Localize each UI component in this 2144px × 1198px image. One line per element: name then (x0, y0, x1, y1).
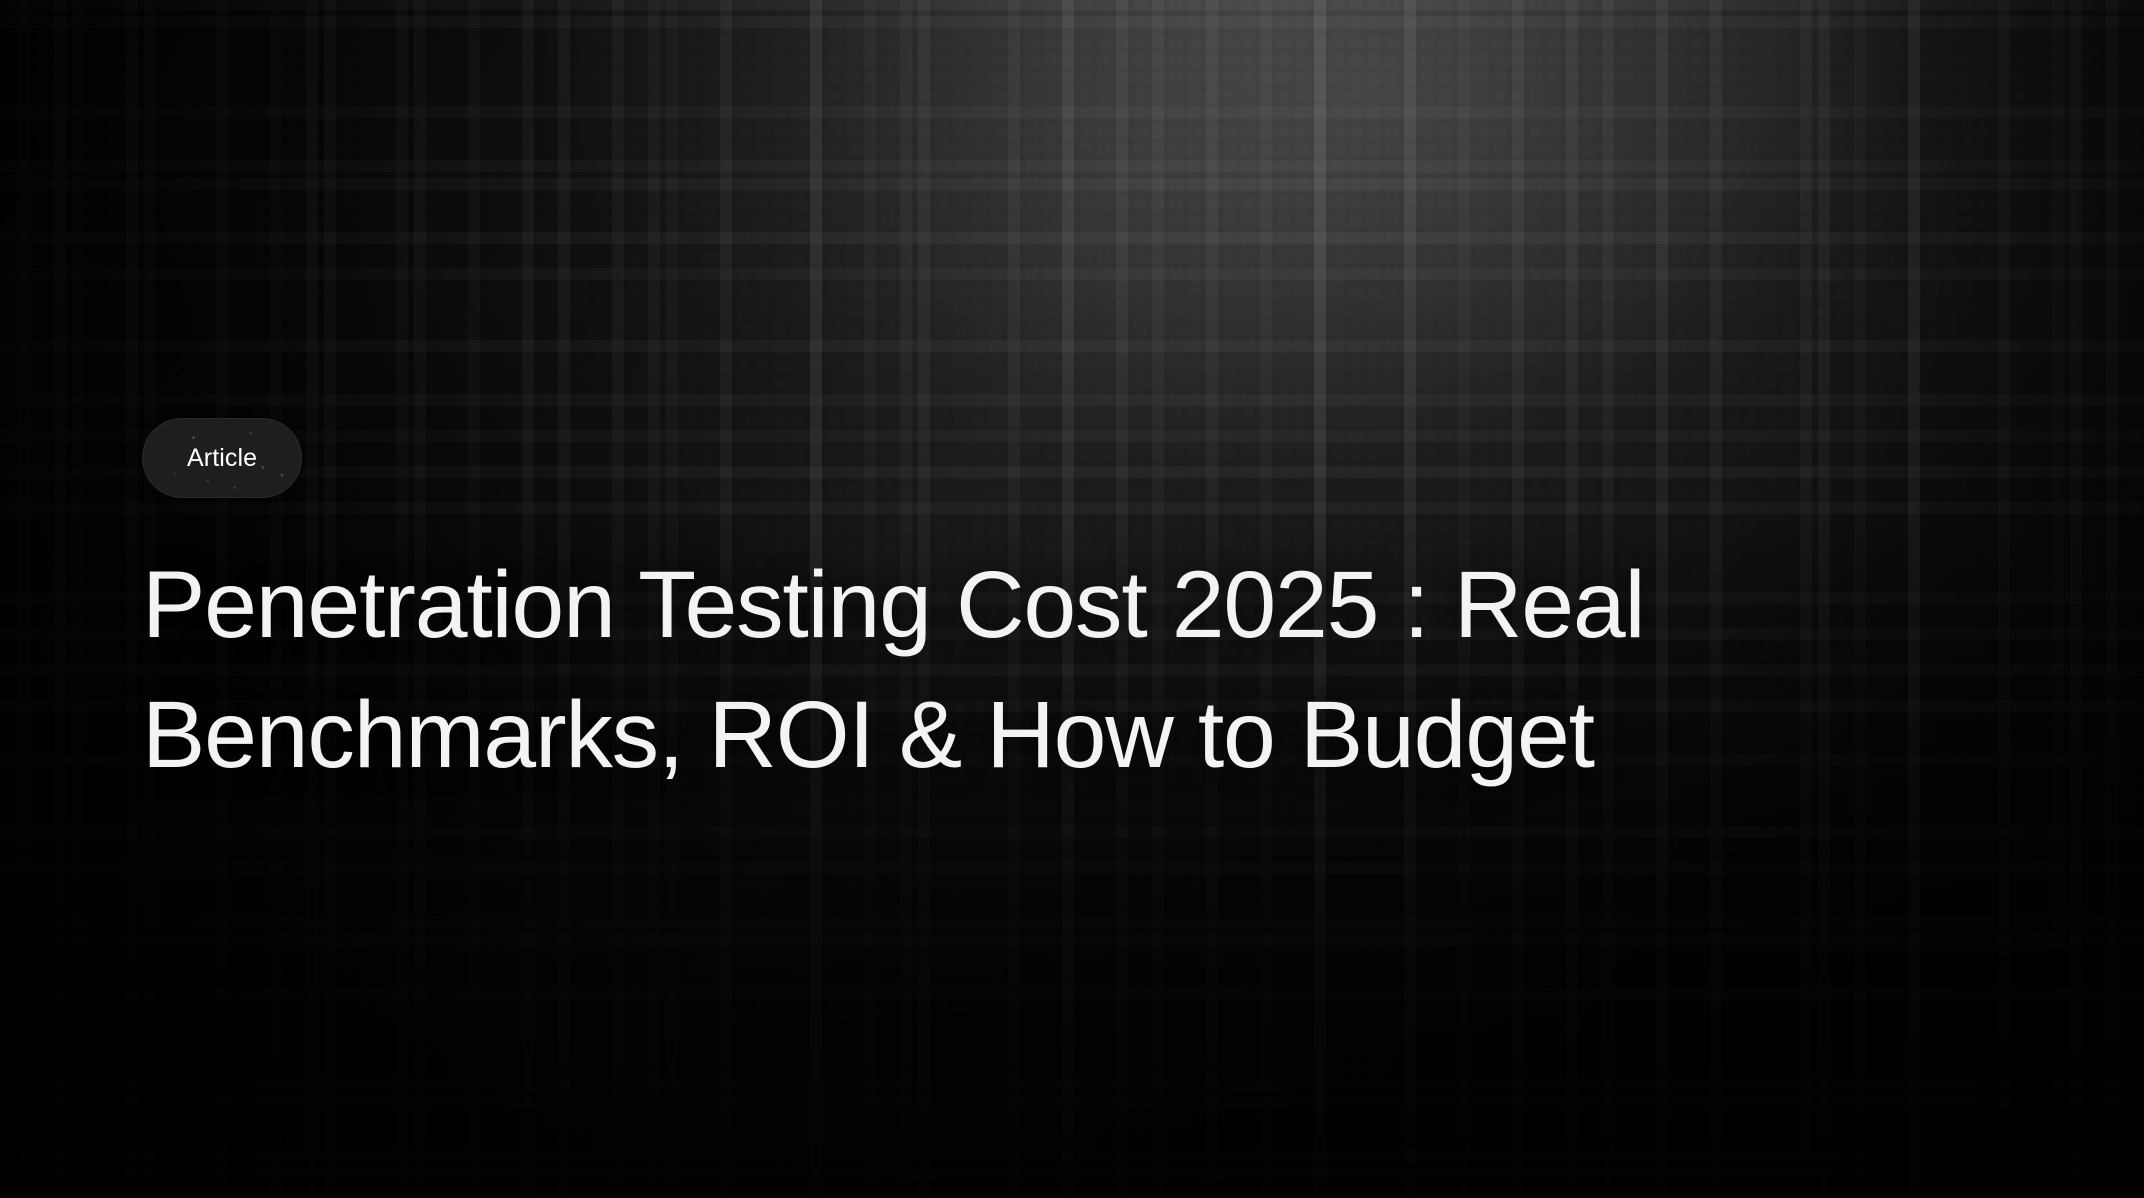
article-category-badge[interactable]: Article (142, 418, 302, 498)
hero-banner: Article Penetration Testing Cost 2025 : … (0, 0, 2144, 1198)
page-title-line-1: Penetration Testing Cost 2025 : Real (142, 540, 1842, 670)
page-title: Penetration Testing Cost 2025 : Real Ben… (142, 540, 1842, 800)
hero-content: Article Penetration Testing Cost 2025 : … (142, 418, 2022, 864)
page-title-line-2: Benchmarks, ROI & How to Budget (142, 670, 1842, 800)
article-category-badge-label: Article (187, 446, 257, 471)
